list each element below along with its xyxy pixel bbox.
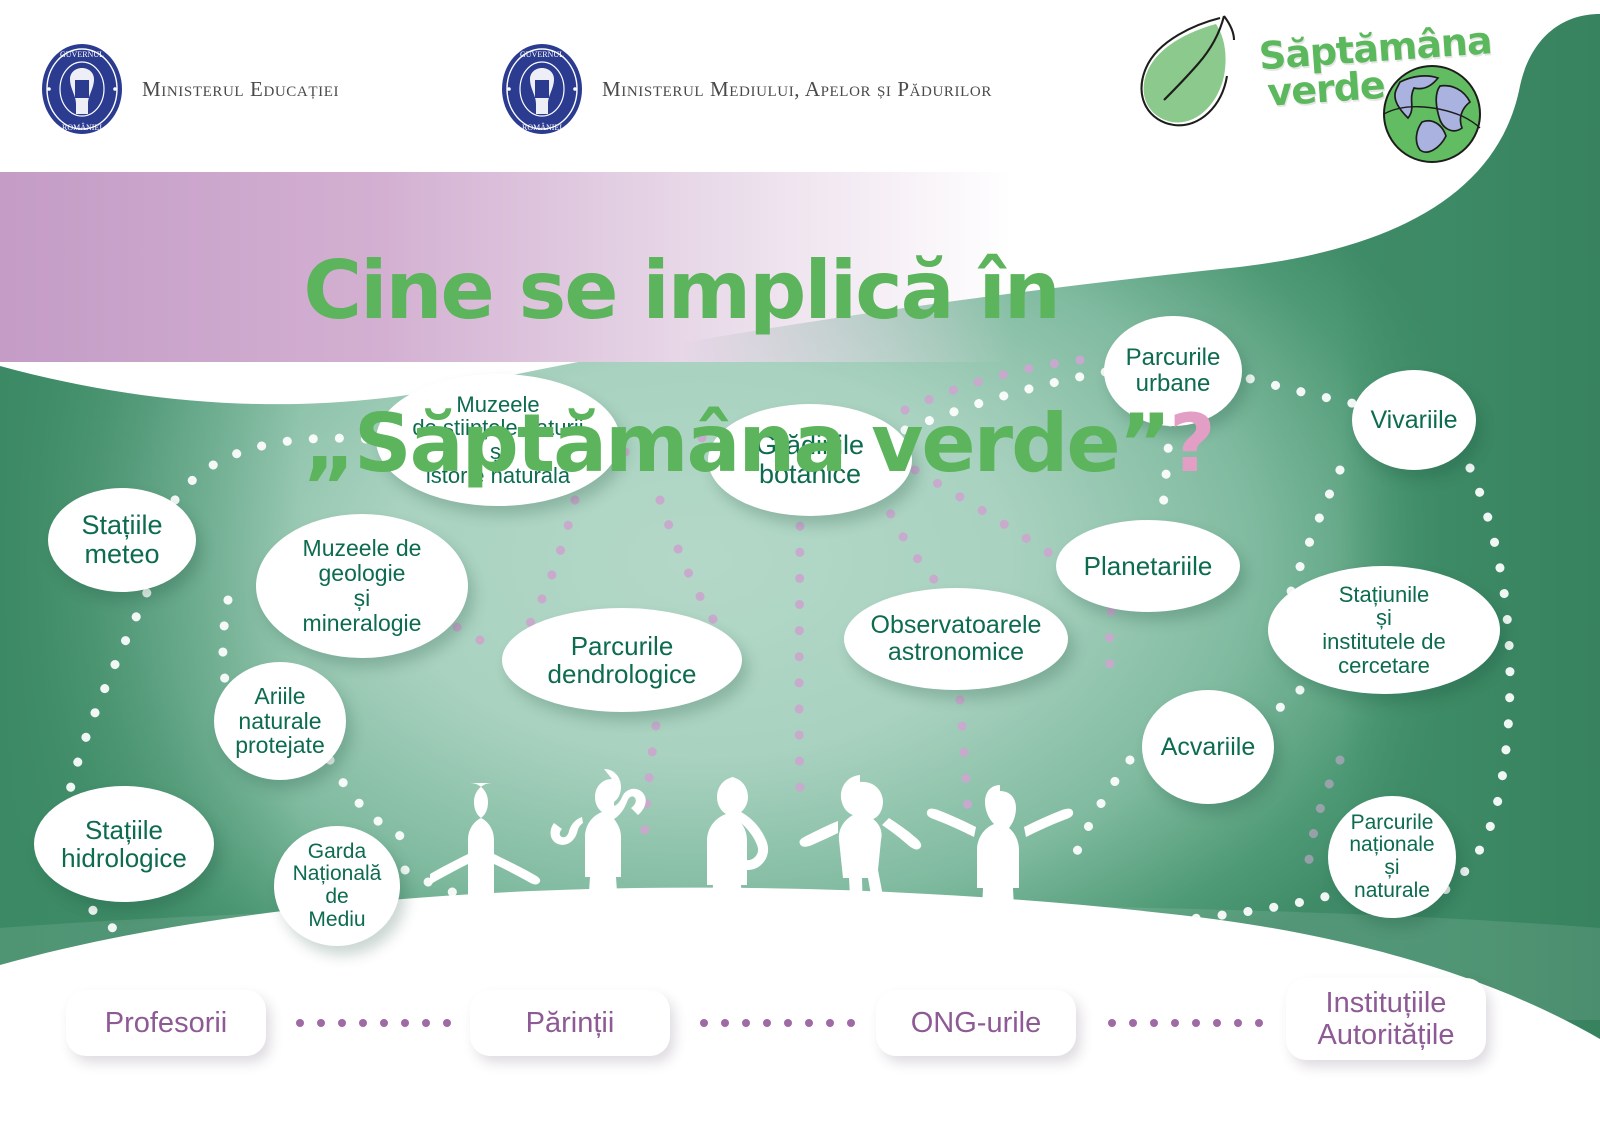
children-silhouettes-icon (430, 755, 1130, 985)
bubble-label: Parcuriledendrologice (542, 632, 703, 688)
bubble-label: Ariilenaturaleprotejate (229, 684, 331, 758)
svg-text:GUVERNUL: GUVERNUL (60, 50, 104, 59)
bubble-statiunile-institutele[interactable]: Stațiunileșiinstitutele decercetare (1268, 566, 1500, 694)
bubble-ariile-naturale-protejate[interactable]: Ariilenaturaleprotejate (214, 662, 346, 780)
dotline-parinti-ong (700, 1019, 855, 1027)
ministry-name-environment: Ministerul Mediului, Apelor și Pădurilor (602, 77, 992, 102)
bubble-label: Parcurilenaționaleșinaturale (1343, 812, 1440, 903)
globe-icon (1378, 60, 1486, 168)
bubble-label: GardaNaționalădeMediu (287, 841, 388, 932)
svg-text:ROMÂNIEI: ROMÂNIEI (62, 122, 102, 132)
title-line-2: „Săptămâna verde” (303, 397, 1169, 490)
pill-label: Profesorii (105, 1007, 228, 1039)
bubble-vivariile[interactable]: Vivariile (1352, 370, 1476, 470)
title-question-mark: ? (1169, 397, 1213, 490)
bubble-garda-nationala-de-mediu[interactable]: GardaNaționalădeMediu (274, 826, 400, 946)
government-seal-icon: GUVERNUL ROMÂNIEI (500, 42, 584, 136)
svg-text:ROMÂNIEI: ROMÂNIEI (522, 122, 562, 132)
pill-label: Părinții (526, 1007, 615, 1039)
brand-logo-saptamana-verde: Săptămâna verde (1120, 8, 1520, 158)
svg-text:GUVERNUL: GUVERNUL (520, 50, 564, 59)
bubble-label: Stațiilehidrologice (55, 816, 193, 872)
bubble-label: Vivariile (1364, 407, 1463, 434)
bubble-acvariile[interactable]: Acvariile (1142, 690, 1274, 804)
poster-root: GUVERNUL ROMÂNIEI Ministerul Educației G… (0, 0, 1600, 1131)
pill-institutiile-autoritatile[interactable]: InstituțiileAutoritățile (1286, 978, 1486, 1060)
bubble-parcurile-nationale-naturale[interactable]: Parcurilenaționaleșinaturale (1328, 796, 1456, 918)
pill-parintii[interactable]: Părinții (470, 990, 670, 1056)
ministry-logo-environment: GUVERNUL ROMÂNIEI Ministerul Mediului, A… (500, 42, 992, 136)
ministry-name-education: Ministerul Educației (142, 77, 339, 102)
bubble-label: Stațiunileșiinstitutele decercetare (1316, 583, 1452, 678)
bubble-parcurile-dendrologice[interactable]: Parcuriledendrologice (502, 608, 742, 712)
ministry-logos: GUVERNUL ROMÂNIEI Ministerul Educației G… (0, 0, 1100, 160)
pill-label: InstituțiileAutoritățile (1317, 987, 1454, 1052)
bubble-observatoarele-astronomice[interactable]: Observatoareleastronomice (844, 588, 1068, 690)
pill-profesorii[interactable]: Profesorii (66, 990, 266, 1056)
title-line-1: Cine se implică în (303, 244, 1058, 337)
government-seal-icon: GUVERNUL ROMÂNIEI (40, 42, 124, 136)
dotline-ong-institutii (1108, 1019, 1263, 1027)
page-title: Cine se implică în „Săptămâna verde”? (200, 176, 1214, 560)
leaf-icon (1120, 8, 1250, 148)
pill-label: ONG-urile (911, 1007, 1042, 1039)
bubble-label: Stațiilemeteo (75, 511, 168, 569)
bubble-statiile-meteo[interactable]: Stațiilemeteo (48, 488, 196, 592)
dotline-profesori-parinti (296, 1019, 451, 1027)
bubble-statiile-hidrologice[interactable]: Stațiilehidrologice (34, 786, 214, 902)
bubble-label: Observatoareleastronomice (865, 612, 1048, 666)
bubble-label: Acvariile (1155, 734, 1261, 761)
pill-ong-urile[interactable]: ONG-urile (876, 990, 1076, 1056)
ministry-logo-education: GUVERNUL ROMÂNIEI Ministerul Educației (40, 42, 339, 136)
